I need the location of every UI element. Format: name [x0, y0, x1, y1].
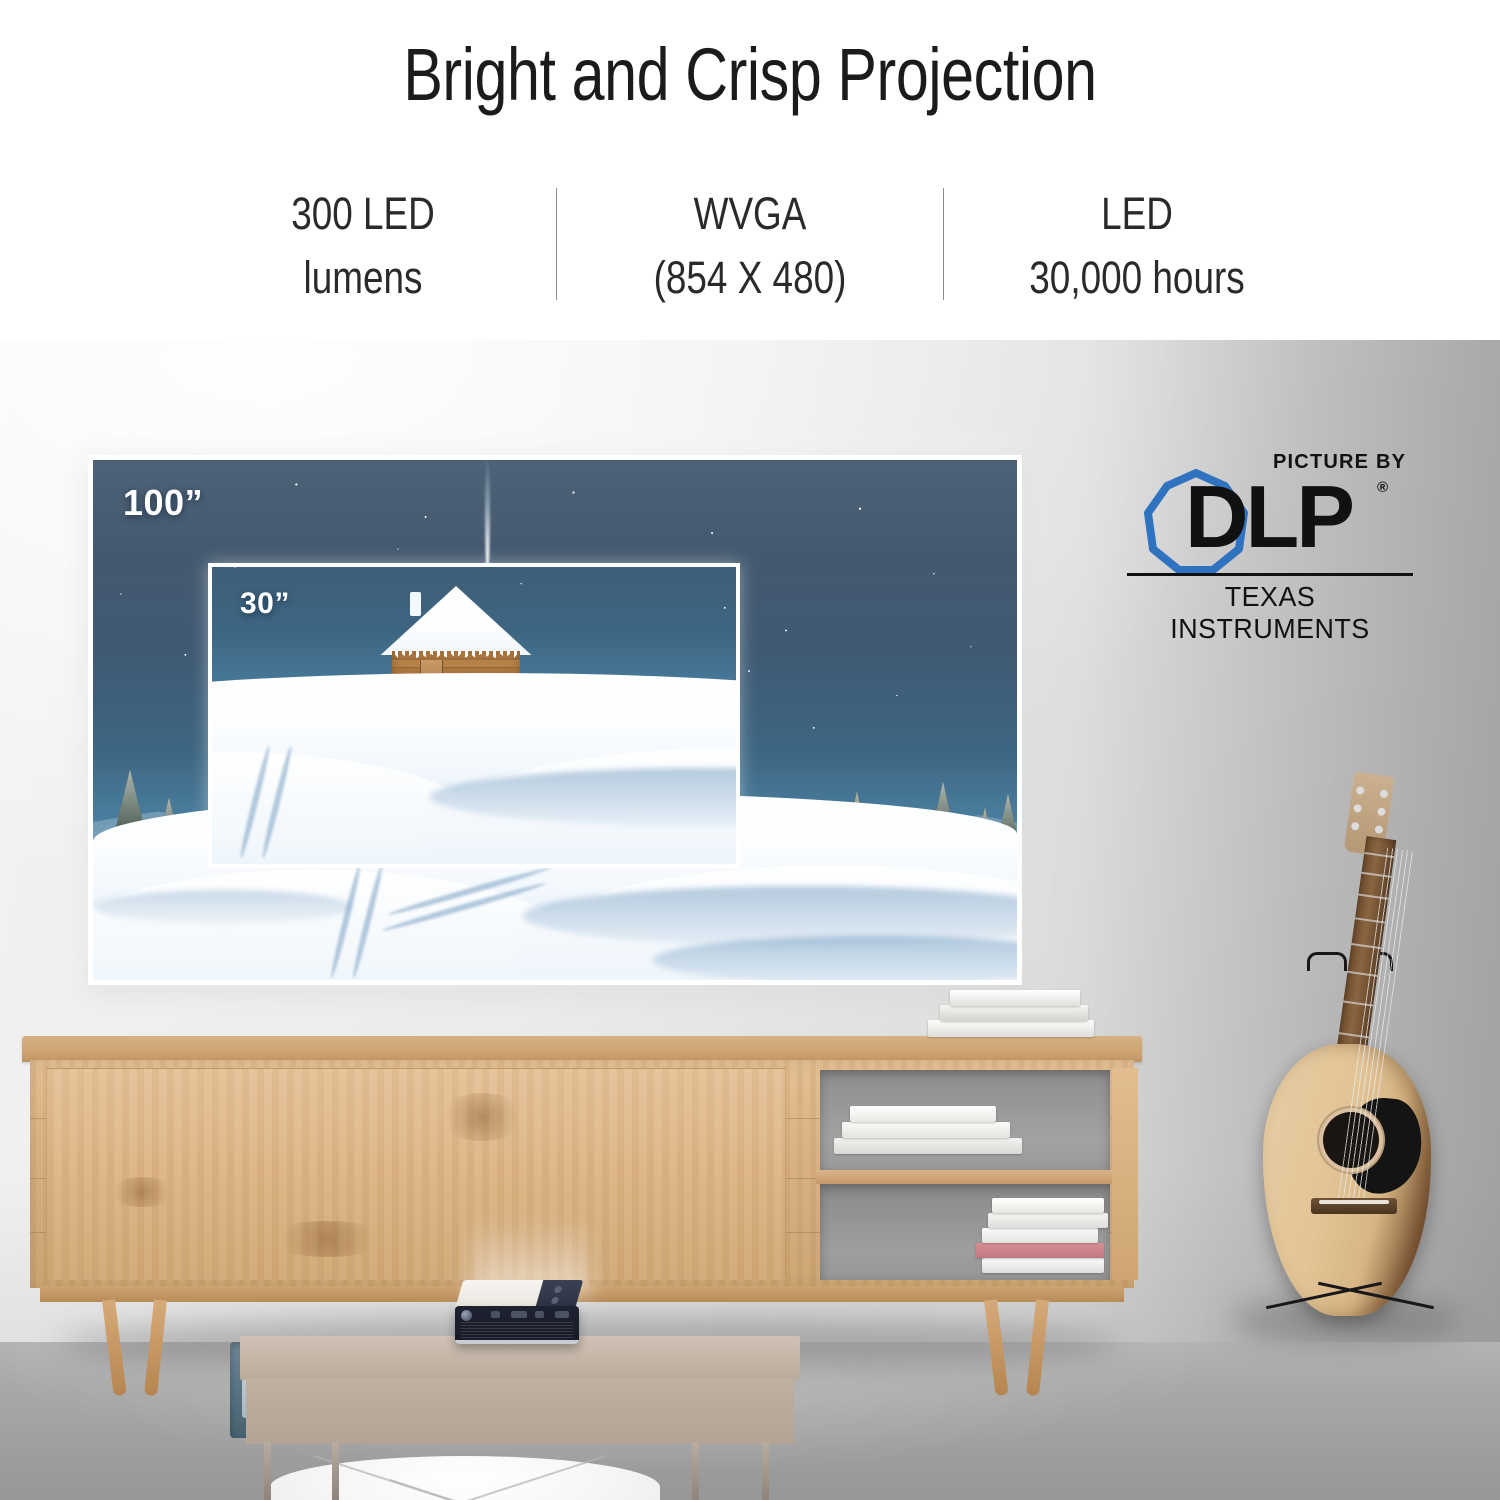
product-feature-image: Bright and Crisp Projection 300 LED lume…: [0, 0, 1500, 1500]
coffee-table-apron: [246, 1378, 794, 1444]
header-section: Bright and Crisp Projection 300 LED lume…: [0, 0, 1500, 340]
spec-resolution-line2: (854 X 480): [592, 246, 909, 310]
spec-item-resolution: WVGA (854 X 480): [557, 182, 943, 310]
projector-button[interactable]: [550, 1297, 559, 1304]
coffee-table-leg: [692, 1442, 699, 1500]
console-top-surface: [22, 1036, 1142, 1062]
snow-shadow: [93, 890, 353, 924]
page-title: Bright and Crisp Projection: [150, 36, 1350, 114]
projector-port: [491, 1311, 500, 1318]
guitar-stand-yoke: [1307, 952, 1347, 971]
acoustic-guitar: [1245, 746, 1445, 1336]
projector-port: [511, 1311, 527, 1318]
projector-port: [535, 1311, 544, 1318]
spec-brightness-line1: 300 LED: [205, 182, 522, 246]
wood-knot: [267, 1221, 387, 1257]
wood-knot: [437, 1093, 527, 1141]
spec-list: 300 LED lumens WVGA (854 X 480) LED 30,0…: [170, 182, 1330, 312]
led-projector[interactable]: [455, 1280, 583, 1346]
projector-front-panel: [455, 1306, 579, 1344]
console-right-panel: [1112, 1068, 1138, 1280]
cabin-chimney: [410, 592, 422, 616]
projector-vent-grill: [461, 1322, 573, 1340]
shelf-book: [834, 1138, 1022, 1154]
projected-screen-30in: 30”: [208, 563, 740, 868]
comet-tail: [485, 455, 490, 572]
guitar-saddle: [1319, 1200, 1389, 1204]
guitar-tuner: [1377, 807, 1386, 816]
shelf-book: [992, 1198, 1104, 1213]
dlp-logo: PICTURE BY DLP ® TEXAS INSTRUMENTS: [1125, 451, 1415, 621]
spec-item-brightness: 300 LED lumens: [170, 182, 556, 310]
guitar-tuner: [1374, 825, 1383, 834]
shelf-book: [982, 1228, 1098, 1243]
projector-button[interactable]: [554, 1286, 563, 1293]
console-top-book: [940, 1005, 1088, 1021]
shelf-book: [850, 1106, 996, 1122]
shelf-book: [842, 1122, 1010, 1138]
projector-base-rim: [455, 1340, 579, 1344]
guitar-tuner: [1351, 822, 1360, 831]
wood-knot: [107, 1177, 177, 1207]
shelf-book: [982, 1258, 1104, 1273]
spec-resolution-line1: WVGA: [592, 182, 909, 246]
shelf-book: [988, 1213, 1108, 1228]
coffee-table-leg: [264, 1442, 271, 1500]
dlp-company-label: TEXAS INSTRUMENTS: [1131, 581, 1409, 645]
guitar-tuner: [1353, 804, 1362, 813]
coffee-table: [240, 1336, 800, 1500]
console-drawer-front[interactable]: [46, 1068, 786, 1280]
coffee-table-leg: [332, 1442, 339, 1500]
shelf-book: [976, 1243, 1104, 1258]
spec-lamp-line1: LED: [979, 182, 1296, 246]
guitar-tuner: [1379, 789, 1388, 798]
spec-brightness-line2: lumens: [205, 246, 522, 310]
room-scene: 100”: [0, 336, 1500, 1500]
console-top-book: [928, 1020, 1094, 1037]
coffee-table-leg: [762, 1442, 769, 1500]
spec-item-lamp-life: LED 30,000 hours: [944, 182, 1330, 310]
screen-label-100in: 100”: [123, 482, 203, 524]
dlp-divider-rule: [1127, 573, 1413, 576]
console-top-book: [950, 990, 1080, 1006]
projector-port: [555, 1311, 569, 1318]
spec-lamp-line2: 30,000 hours: [979, 246, 1296, 310]
dlp-registered-mark: ®: [1377, 479, 1388, 496]
projector-lens: [461, 1310, 472, 1321]
cabin-roof: [380, 586, 531, 655]
dlp-wordmark: DLP: [1185, 473, 1352, 561]
console-shelf-board: [816, 1170, 1114, 1184]
screen-label-30in: 30”: [240, 587, 290, 621]
guitar-tuner: [1356, 786, 1365, 795]
